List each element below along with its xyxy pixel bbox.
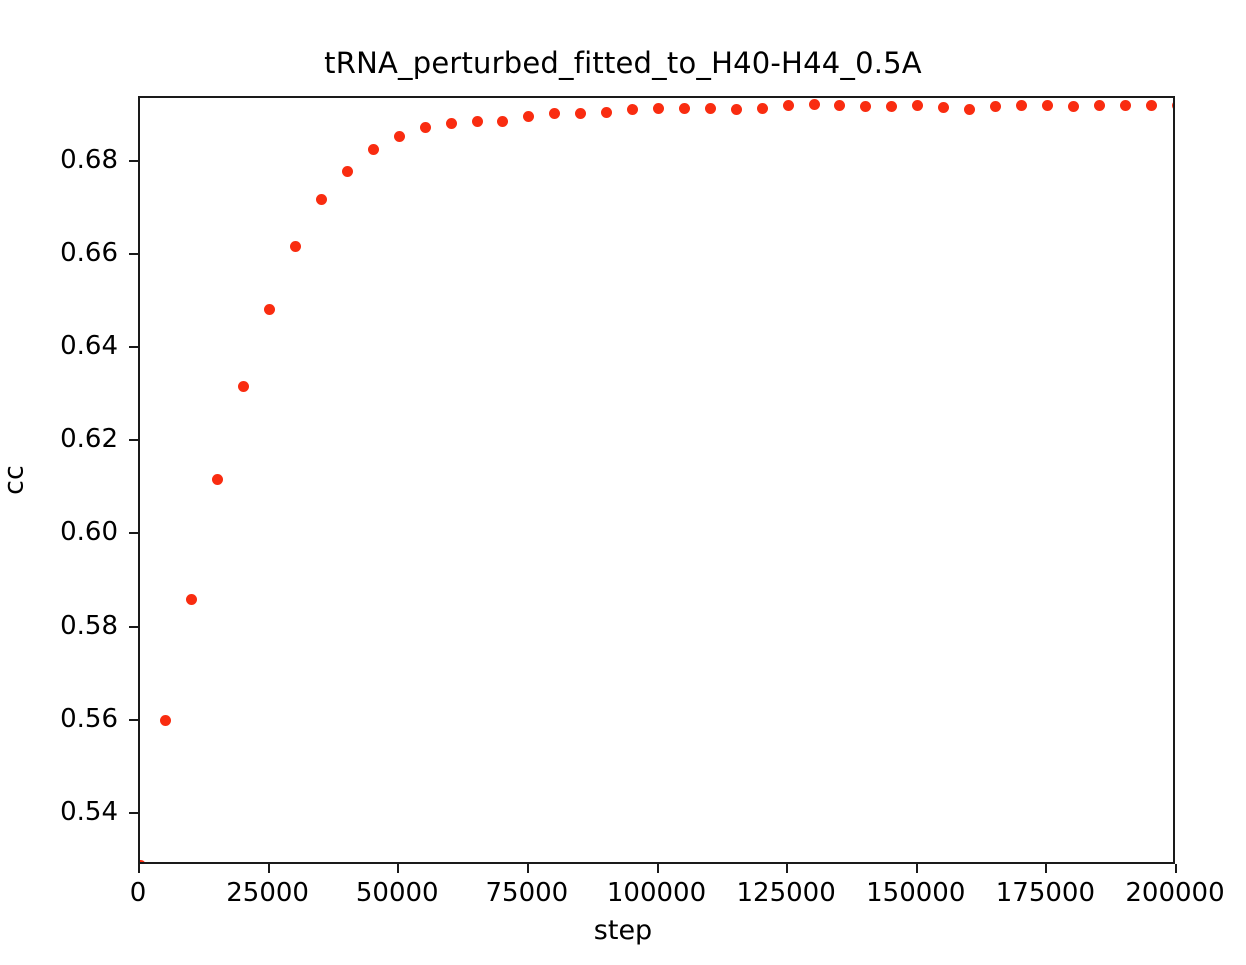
y-tick-mark	[129, 532, 138, 534]
y-tick-mark	[129, 253, 138, 255]
data-point	[368, 144, 379, 155]
x-tick-mark	[916, 864, 918, 873]
y-tick-label: 0.64	[0, 331, 118, 361]
x-tick-mark	[1045, 864, 1047, 873]
data-point	[834, 100, 845, 111]
plot-area	[138, 96, 1175, 864]
y-tick-label: 0.60	[0, 517, 118, 547]
scatter-points-layer	[140, 98, 1173, 862]
data-point	[575, 108, 586, 119]
x-tick-mark	[527, 864, 529, 873]
data-point	[912, 100, 923, 111]
x-tick-label: 175000	[996, 878, 1095, 908]
x-tick-label: 50000	[356, 878, 439, 908]
data-point	[990, 101, 1001, 112]
y-tick-mark	[129, 812, 138, 814]
data-point	[420, 122, 431, 133]
data-point	[731, 104, 742, 115]
y-tick-label: 0.58	[0, 611, 118, 641]
data-point	[212, 474, 223, 485]
data-point	[938, 102, 949, 113]
data-point	[523, 111, 534, 122]
y-tick-label: 0.66	[0, 238, 118, 268]
x-tick-label: 75000	[486, 878, 569, 908]
data-point	[886, 101, 897, 112]
data-point	[1042, 100, 1053, 111]
y-tick-mark	[129, 439, 138, 441]
data-point	[601, 107, 612, 118]
data-point	[160, 715, 171, 726]
data-point	[394, 131, 405, 142]
x-tick-label: 125000	[736, 878, 835, 908]
data-point	[757, 103, 768, 114]
data-point	[316, 194, 327, 205]
figure-canvas: tRNA_perturbed_fitted_to_H40-H44_0.5A 0.…	[0, 0, 1246, 965]
page-title: tRNA_perturbed_fitted_to_H40-H44_0.5A	[0, 46, 1246, 80]
x-tick-label: 100000	[607, 878, 706, 908]
x-tick-mark	[786, 864, 788, 873]
data-point	[783, 100, 794, 111]
x-tick-mark	[397, 864, 399, 873]
y-tick-label: 0.68	[0, 145, 118, 175]
y-tick-label: 0.54	[0, 797, 118, 827]
x-tick-mark	[138, 864, 140, 873]
y-tick-label: 0.62	[0, 424, 118, 454]
data-point	[1068, 101, 1079, 112]
data-point	[497, 116, 508, 127]
data-point	[964, 104, 975, 115]
x-tick-mark	[1175, 864, 1177, 873]
data-point	[342, 166, 353, 177]
data-point	[679, 103, 690, 114]
data-point	[238, 381, 249, 392]
data-point	[1172, 100, 1174, 111]
x-tick-label: 200000	[1125, 878, 1224, 908]
data-point	[705, 103, 716, 114]
data-point	[860, 101, 871, 112]
data-point	[446, 118, 457, 129]
data-point	[653, 103, 664, 114]
x-tick-mark	[657, 864, 659, 873]
y-tick-mark	[129, 626, 138, 628]
x-tick-label: 25000	[226, 878, 309, 908]
data-point	[549, 108, 560, 119]
x-tick-label: 0	[130, 878, 147, 908]
y-tick-mark	[129, 346, 138, 348]
y-tick-mark	[129, 719, 138, 721]
data-point	[809, 99, 820, 110]
data-point	[140, 860, 146, 862]
data-point	[264, 304, 275, 315]
data-point	[290, 241, 301, 252]
data-point	[1120, 100, 1131, 111]
data-point	[1094, 100, 1105, 111]
y-tick-label: 0.56	[0, 704, 118, 734]
x-tick-mark	[268, 864, 270, 873]
data-point	[627, 104, 638, 115]
y-tick-mark	[129, 160, 138, 162]
data-point	[472, 116, 483, 127]
data-point	[1016, 100, 1027, 111]
x-axis-label: step	[0, 915, 1246, 946]
data-point	[186, 594, 197, 605]
y-axis-label: cc	[0, 465, 30, 495]
x-tick-label: 150000	[866, 878, 965, 908]
data-point	[1146, 100, 1157, 111]
